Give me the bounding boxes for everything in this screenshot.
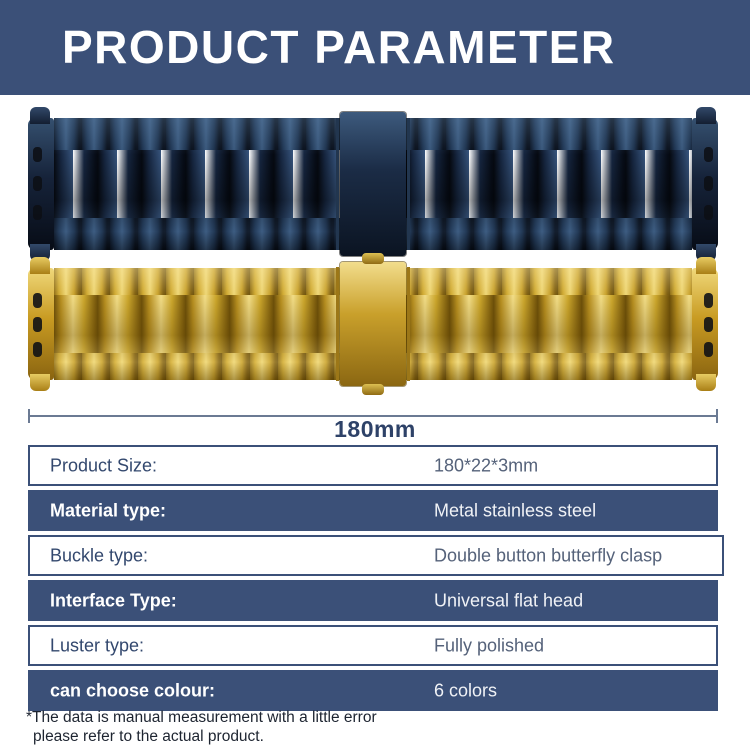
spec-key: Interface Type: xyxy=(50,590,177,611)
gold-lug-notch xyxy=(704,317,713,332)
spec-value: 180*22*3mm xyxy=(434,455,538,476)
gold-butterfly-clasp xyxy=(340,262,406,386)
spec-table: Product Size:180*22*3mmMaterial type:Met… xyxy=(28,445,718,715)
table-row: Luster type:Fully polished xyxy=(28,625,718,666)
spec-value: Double button butterfly clasp xyxy=(434,545,662,566)
spec-value: Fully polished xyxy=(434,635,544,656)
gold-lug-notch xyxy=(33,293,42,308)
spec-key: Luster type: xyxy=(50,635,144,656)
page-title: PRODUCT PARAMETER xyxy=(62,19,616,73)
navy-lug-tab-top-left xyxy=(30,107,50,124)
navy-clasp-edge-left xyxy=(336,118,339,251)
dimension-label: 180mm xyxy=(0,416,750,443)
gold-lug-tab-top-left xyxy=(30,257,50,274)
navy-lug-left xyxy=(28,118,54,250)
gold-lug-right xyxy=(692,268,718,380)
gold-lug-tab-bottom-left xyxy=(30,374,50,391)
gold-clasp-edge-left xyxy=(336,267,339,381)
navy-lug-notch xyxy=(704,147,713,162)
spec-key: can choose colour: xyxy=(50,680,215,701)
table-row: Buckle type:Double button butterfly clas… xyxy=(28,535,724,576)
footnote-line-1: *The data is manual measurement with a l… xyxy=(26,709,377,726)
navy-lug-notch xyxy=(33,176,42,191)
gold-lug-tab-top-right xyxy=(696,257,716,274)
spec-value: Metal stainless steel xyxy=(434,500,596,521)
navy-lug-right xyxy=(692,118,718,250)
navy-lug-tab-top-right xyxy=(696,107,716,124)
gold-watch-band xyxy=(28,268,718,380)
gold-clasp-button-top xyxy=(362,253,384,264)
spec-key: Buckle type: xyxy=(50,545,148,566)
table-row: Material type:Metal stainless steel xyxy=(28,490,718,531)
navy-lug-notch xyxy=(33,147,42,162)
spec-key: Product Size: xyxy=(50,455,157,476)
navy-butterfly-clasp xyxy=(340,112,406,256)
table-row: Interface Type:Universal flat head xyxy=(28,580,718,621)
navy-clasp-button-top xyxy=(362,103,384,114)
product-parameter-page: PRODUCT PARAMETER xyxy=(0,0,750,750)
navy-lug-notch xyxy=(33,205,42,220)
gold-lug-notch xyxy=(33,342,42,357)
gold-lug-notch xyxy=(704,293,713,308)
gold-clasp-button-bottom xyxy=(362,384,384,395)
navy-lug-notch xyxy=(704,176,713,191)
footnote: *The data is manual measurement with a l… xyxy=(26,708,726,746)
navy-watch-band xyxy=(28,118,718,250)
navy-clasp-edge-right xyxy=(407,118,410,251)
gold-clasp-edge-right xyxy=(407,267,410,381)
gold-lug-left xyxy=(28,268,54,380)
table-row: Product Size:180*22*3mm xyxy=(28,445,718,486)
table-row: can choose colour:6 colors xyxy=(28,670,718,711)
page-header: PRODUCT PARAMETER xyxy=(0,0,750,95)
gold-lug-notch xyxy=(704,342,713,357)
navy-lug-notch xyxy=(704,205,713,220)
gold-lug-tab-bottom-right xyxy=(696,374,716,391)
spec-key: Material type: xyxy=(50,500,166,521)
footnote-line-2: please refer to the actual product. xyxy=(26,727,726,746)
spec-value: 6 colors xyxy=(434,680,497,701)
spec-value: Universal flat head xyxy=(434,590,583,611)
gold-lug-notch xyxy=(33,317,42,332)
